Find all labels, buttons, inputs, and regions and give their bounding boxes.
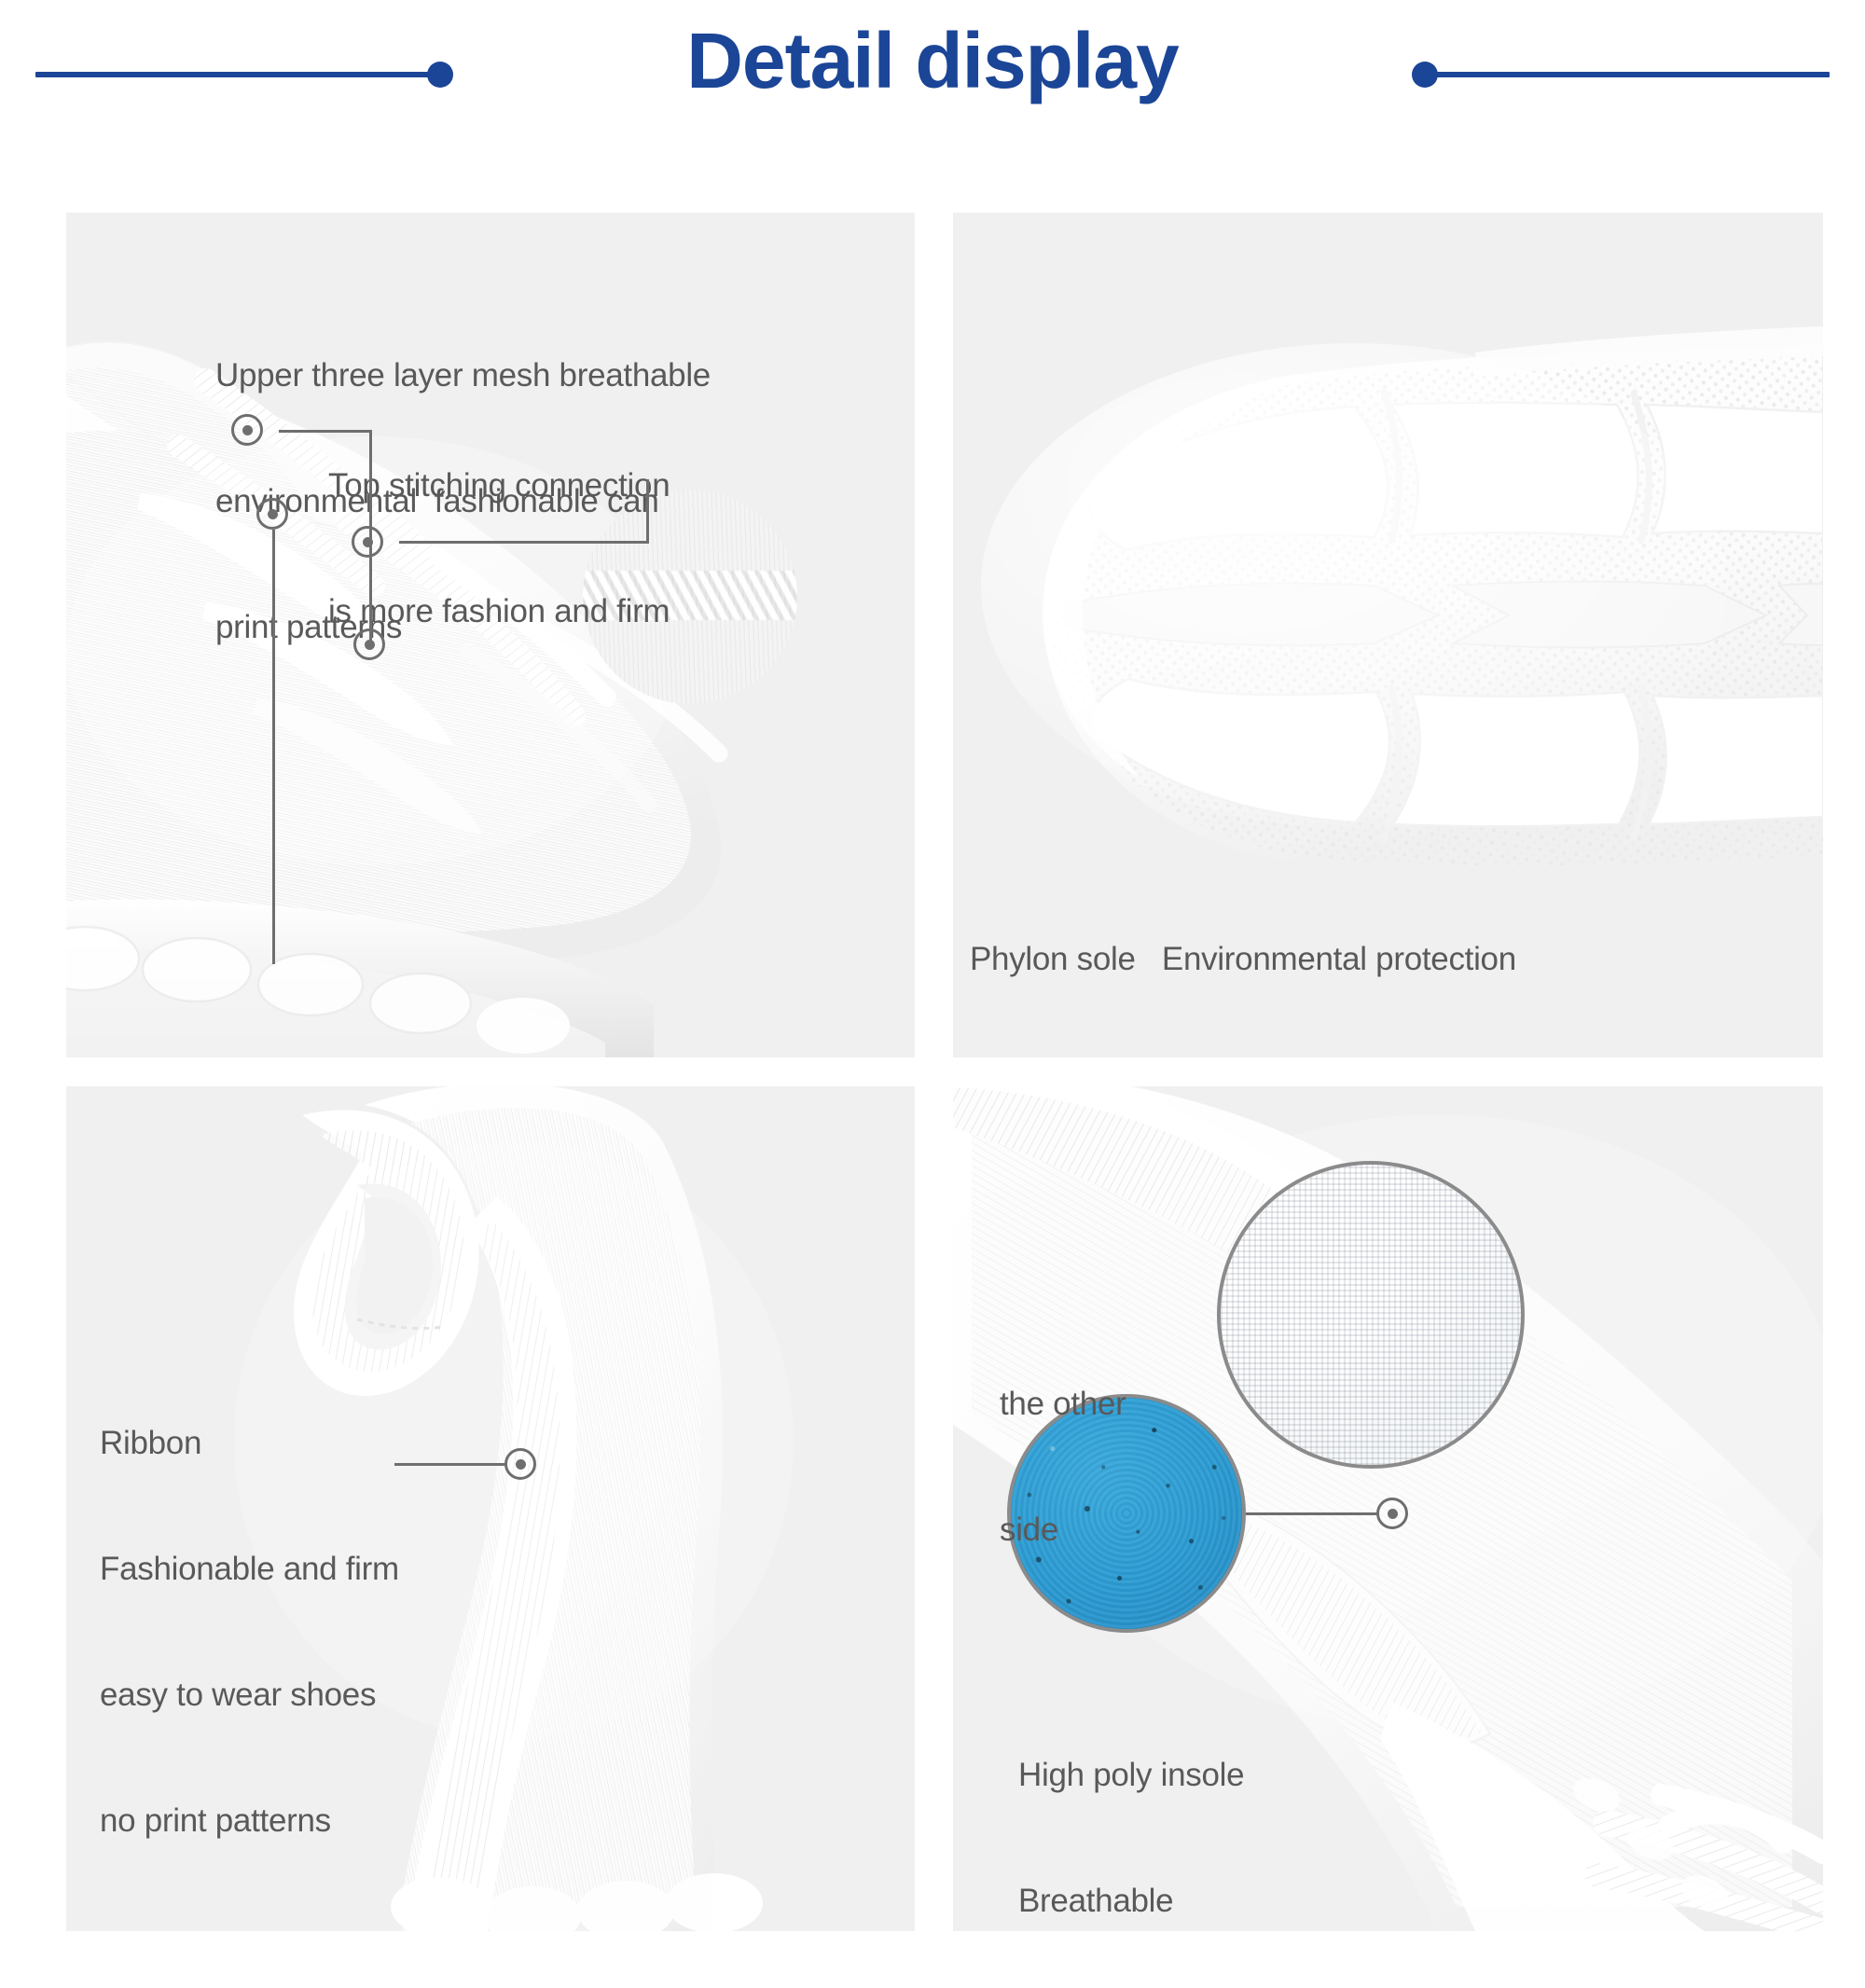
- callout-marker-ribbon[interactable]: [256, 498, 288, 530]
- callout-line: Breathable: [1018, 1880, 1410, 1922]
- callout-marker-eyestay[interactable]: [353, 628, 385, 660]
- callout-line: the other: [1000, 1383, 1242, 1425]
- callout-line: Top stitching connection: [328, 464, 850, 506]
- callout-line: easy to wear shoes: [100, 1674, 538, 1716]
- leader-ribbon-horizontal: [394, 1463, 506, 1466]
- phylon-sole-callout-text: Phylon sole Environmental protection sho…: [970, 854, 1790, 1057]
- header-dot-right: [1412, 62, 1438, 88]
- panel-ribbon-heel: Ribbon Fashionable and firm easy to wear…: [66, 1086, 915, 1931]
- callout-line: Ribbon: [100, 1422, 538, 1464]
- callout-line: black and white two: [100, 1926, 538, 1931]
- callout-marker-stitching[interactable]: [352, 526, 383, 558]
- callout-line: is more fashion and firm: [328, 590, 850, 632]
- panel-upper-mesh: Upper three layer mesh breathable enviro…: [66, 213, 915, 1057]
- ribbon-callout-text: Ribbon no print patterns,black and white…: [88, 979, 684, 1057]
- ribbon-detail-callout-text: Ribbon Fashionable and firm easy to wear…: [100, 1338, 538, 1931]
- callout-marker-ribbon-detail[interactable]: [504, 1448, 536, 1480]
- leader-c-horizontal: [399, 541, 649, 544]
- callout-marker-insole[interactable]: [1376, 1498, 1408, 1529]
- leader-insole-horizontal: [1246, 1512, 1378, 1515]
- panel-phylon-sole: Phylon sole Environmental protection sho…: [953, 213, 1823, 1057]
- insole-callout-text: High poly insole Breathable Deodorant: [1018, 1670, 1410, 1931]
- callout-line: no print patterns: [100, 1800, 538, 1842]
- page-header: Detail display: [0, 0, 1865, 177]
- callout-line: High poly insole: [1018, 1754, 1410, 1796]
- page-title: Detail display: [0, 9, 1865, 112]
- callout-line: Phylon sole Environmental protection: [970, 938, 1790, 980]
- mesh-zoom-circle: [1217, 1161, 1525, 1469]
- leader-b-vertical: [272, 530, 275, 964]
- leader-c-vertical: [646, 479, 649, 543]
- callout-line: Fashionable and firm: [100, 1548, 538, 1590]
- leader-a-horizontal: [279, 430, 372, 433]
- callout-marker-upper-mesh[interactable]: [231, 414, 263, 446]
- panel-insole: the other side High poly insole Breathab…: [953, 1086, 1823, 1931]
- header-rule-right: [1425, 72, 1830, 77]
- callout-line: side: [1000, 1509, 1242, 1551]
- other-side-callout-text: the other side: [1000, 1299, 1242, 1635]
- top-stitching-callout-text: Top stitching connection is more fashion…: [328, 380, 850, 716]
- detail-display-page: Detail display: [0, 0, 1865, 1988]
